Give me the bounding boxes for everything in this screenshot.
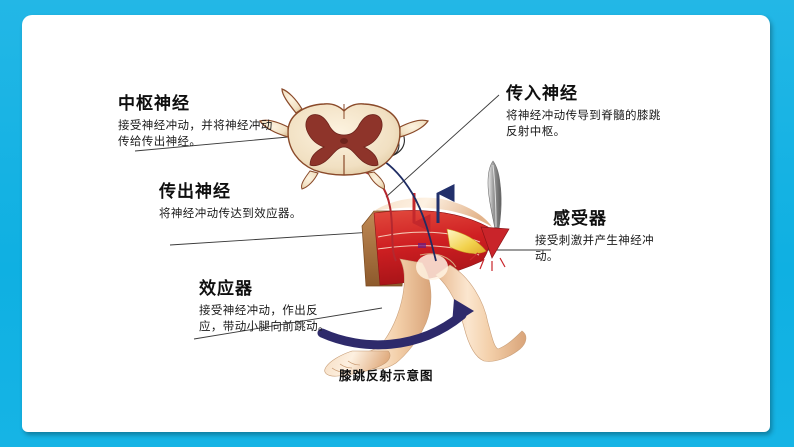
ganglion-nucleus xyxy=(377,137,380,140)
reflex-hammer xyxy=(470,161,509,271)
dorsal-root-ganglion xyxy=(371,134,383,144)
leader-line-efferent-nerve xyxy=(170,227,452,245)
label-receptor-title: 感受器 xyxy=(535,210,663,229)
nerve-root-loops xyxy=(336,115,404,157)
front-lower-leg xyxy=(349,259,431,369)
leader-line-afferent-nerve xyxy=(386,95,499,197)
slide-root: 中枢神经 接受神经冲动，并将神经冲动传给传出神经。 传出神经 将神经冲动传达到效… xyxy=(0,0,794,447)
patellar-tendon xyxy=(447,229,486,254)
efferent-nerve-path xyxy=(358,170,396,261)
label-effector-title: 效应器 xyxy=(199,280,331,299)
thigh-group xyxy=(362,198,492,286)
left-dorsal-stub xyxy=(282,89,302,113)
thigh-cut-edge xyxy=(362,211,411,286)
central-canal xyxy=(340,138,348,144)
right-nerve-root-stub xyxy=(400,120,428,137)
label-central-nerve-title: 中枢神经 xyxy=(118,95,276,114)
hammer-handle xyxy=(488,161,501,229)
label-effector: 效应器 接受神经冲动，作出反应，带动小腿向前跳动。 xyxy=(199,280,331,336)
label-central-nerve: 中枢神经 接受神经冲动，并将神经冲动传给传出神经。 xyxy=(118,95,276,151)
kick-motion-arrow-shaft xyxy=(322,315,462,345)
kneecap-highlight xyxy=(416,254,448,280)
figure-caption: 膝跳反射示意图 xyxy=(339,365,434,384)
label-central-nerve-desc: 接受神经冲动，并将神经冲动传给传出神经。 xyxy=(118,118,276,151)
motor-end-plate xyxy=(418,243,426,248)
label-receptor: 感受器 接受刺激并产生神经冲动。 xyxy=(535,210,663,266)
muscle-striations xyxy=(378,232,480,255)
label-efferent-nerve-desc: 将神经冲动传达到效应器。 xyxy=(159,206,307,223)
label-effector-desc: 接受神经冲动，作出反应，带动小腿向前跳动。 xyxy=(199,303,331,336)
spinal-cord-cross-section xyxy=(260,89,428,189)
quadriceps-muscle xyxy=(374,210,490,285)
white-matter xyxy=(288,104,400,175)
label-afferent-nerve: 传入神经 将神经冲动传导到脊髓的膝跳反射中枢。 xyxy=(506,85,662,141)
label-efferent-nerve-title: 传出神经 xyxy=(159,183,307,202)
slide-content-canvas: 中枢神经 接受神经冲动，并将神经冲动传给传出神经。 传出神经 将神经冲动传达到效… xyxy=(22,15,770,432)
right-ventral-root-stub xyxy=(368,172,385,189)
label-afferent-nerve-title: 传入神经 xyxy=(506,85,662,104)
knee-shading xyxy=(420,254,456,267)
hammer-handle-highlight xyxy=(493,165,496,227)
grey-matter xyxy=(306,115,382,166)
label-afferent-nerve-desc: 将神经冲动传导到脊髓的膝跳反射中枢。 xyxy=(506,108,662,141)
label-efferent-nerve: 传出神经 将神经冲动传达到效应器。 xyxy=(159,183,307,222)
legs-group xyxy=(325,254,526,376)
kick-motion-arrow-head xyxy=(452,299,474,325)
thigh-skin-highlight xyxy=(374,198,492,227)
rear-lower-leg xyxy=(436,265,526,361)
impact-sparks xyxy=(470,253,505,271)
afferent-nerve-path xyxy=(374,155,436,261)
label-receptor-desc: 接受刺激并产生神经冲动。 xyxy=(535,233,663,266)
hammer-head xyxy=(481,227,509,258)
